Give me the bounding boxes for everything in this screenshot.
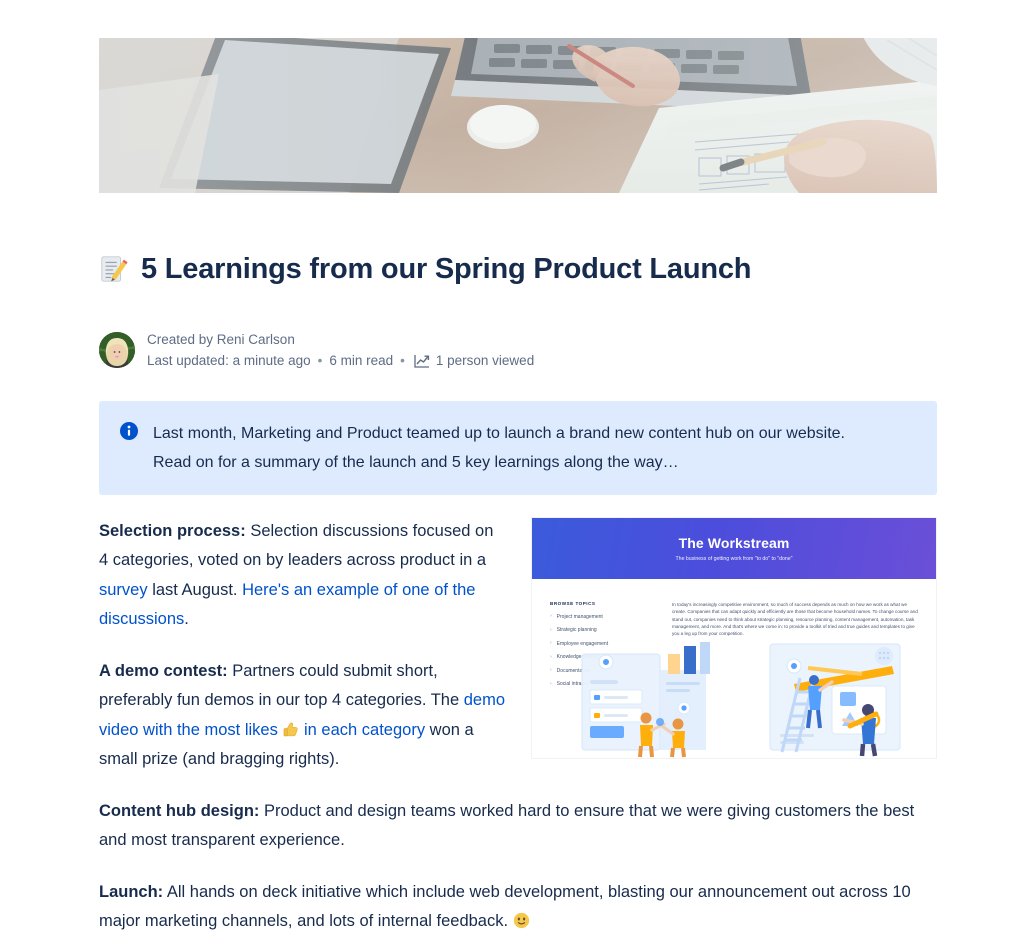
thumbs-up-emoji	[282, 719, 299, 736]
card-topic-item[interactable]: ›Project management	[550, 614, 658, 620]
chart-trend-icon-graphic	[414, 354, 430, 368]
byline-text: Created by Reni Carlson Last updated: a …	[147, 329, 534, 371]
info-panel-text: Last month, Marketing and Product teamed…	[153, 419, 845, 477]
info-circle-icon	[119, 421, 139, 441]
card-topic-item[interactable]: ›Strategic planning	[550, 627, 658, 633]
paragraph-lead: Content hub design:	[99, 802, 259, 820]
byline-read-time: 6 min read	[329, 350, 393, 371]
byline-created-by: Created by Reni Carlson	[147, 329, 534, 350]
byline-meta: Last updated: a minute ago • 6 min read …	[147, 350, 534, 371]
article-container: 5 Learnings from our Spring Product Laun…	[99, 38, 937, 937]
article-paragraph: Launch: All hands on deck initiative whi…	[99, 878, 937, 937]
chevron-right-icon: ›	[550, 614, 552, 619]
info-panel-line-2: Read on for a summary of the launch and …	[153, 448, 845, 477]
info-panel-line-1: Last month, Marketing and Product teamed…	[153, 419, 845, 448]
hero-photo-graphic	[99, 38, 937, 193]
byline: Created by Reni Carlson Last updated: a …	[99, 329, 937, 371]
avatar[interactable]	[99, 332, 135, 368]
info-panel: Last month, Marketing and Product teamed…	[99, 401, 937, 495]
card-topic-label: Project management	[557, 614, 603, 620]
memo-emoji-graphic	[99, 254, 129, 284]
memo-emoji	[99, 254, 129, 284]
article-paragraph: Content hub design: Product and design t…	[99, 797, 937, 856]
inline-link[interactable]: in each category	[299, 721, 425, 739]
chart-trend-icon	[414, 354, 430, 368]
byline-separator-1: •	[318, 350, 323, 371]
inline-link[interactable]: survey	[99, 581, 148, 599]
byline-views: 1 person viewed	[436, 350, 534, 371]
card-topics-heading: BROWSE TOPICS	[550, 601, 658, 606]
embedded-link-card[interactable]: The Workstream The business of getting w…	[531, 517, 937, 759]
article-body: The Workstream The business of getting w…	[99, 517, 937, 937]
card-subtitle: The business of getting work from "to do…	[676, 556, 793, 562]
paragraph-lead: Launch:	[99, 883, 163, 901]
paragraph-lead: Selection process:	[99, 522, 246, 540]
byline-separator-2: •	[400, 350, 405, 371]
byline-last-updated: Last updated: a minute ago	[147, 350, 311, 371]
page-title-row: 5 Learnings from our Spring Product Laun…	[99, 233, 937, 306]
paragraph-text: .	[184, 610, 189, 628]
paragraph-text: last August.	[148, 581, 242, 599]
card-header: The Workstream The business of getting w…	[532, 518, 936, 579]
slight-smile-emoji	[513, 910, 530, 927]
teamwork-illustration	[532, 640, 937, 758]
info-circle-icon-graphic	[119, 421, 139, 441]
page-title: 5 Learnings from our Spring Product Laun…	[141, 252, 751, 286]
card-topic-label: Strategic planning	[557, 627, 597, 633]
paragraph-lead: A demo contest:	[99, 662, 228, 680]
avatar-image	[99, 332, 135, 368]
paragraph-text: All hands on deck initiative which inclu…	[99, 883, 911, 931]
hero-photo	[99, 38, 937, 193]
chevron-right-icon: ›	[550, 628, 552, 633]
card-title: The Workstream	[679, 535, 790, 551]
article-page: 5 Learnings from our Spring Product Laun…	[0, 0, 1036, 937]
